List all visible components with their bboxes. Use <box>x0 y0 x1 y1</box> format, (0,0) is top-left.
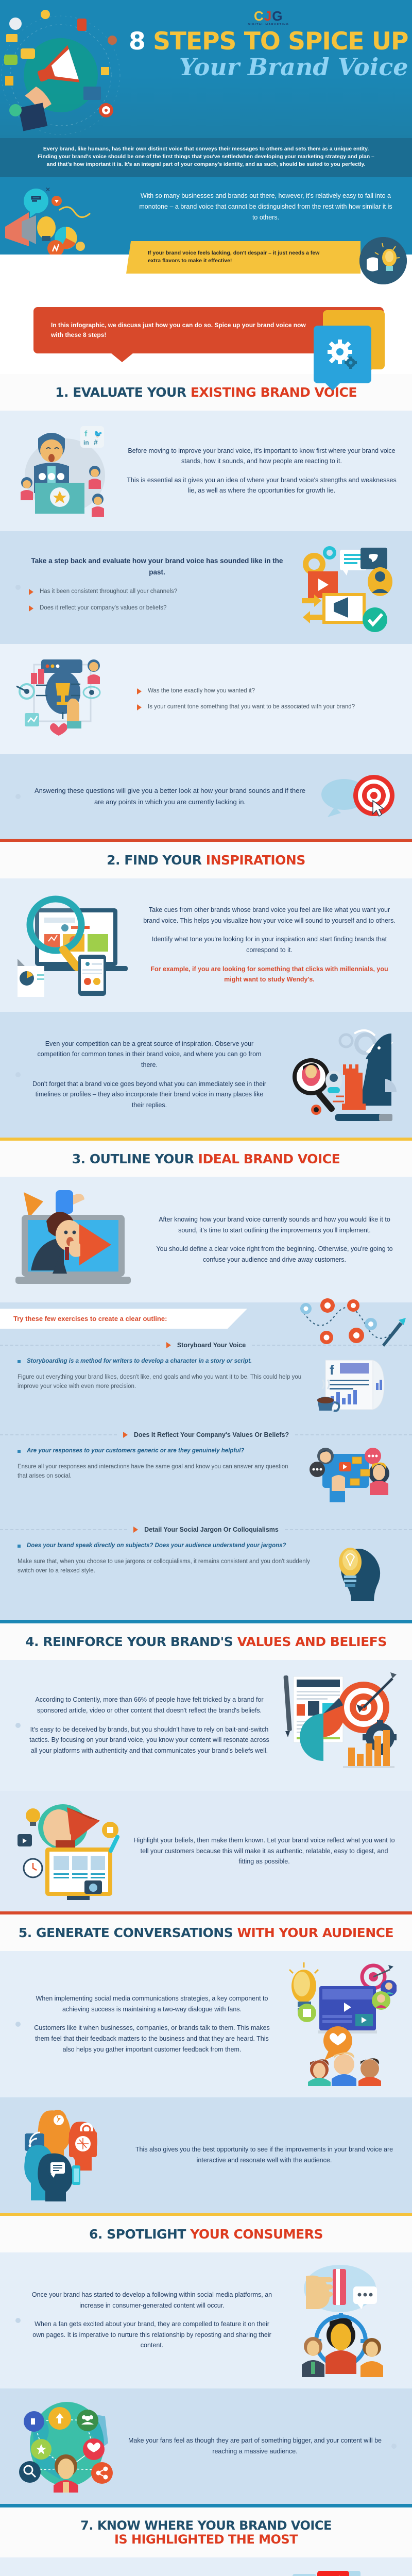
section-2-row-2: Even your competition can be a great sou… <box>0 1012 412 1138</box>
trophy-target-illustration <box>15 655 113 743</box>
hero-title-line-2: Your Brand Voice <box>129 55 408 79</box>
section-6-title-dark: SPOTLIGHT <box>107 2227 186 2242</box>
section-2-title-dark: FIND YOUR <box>124 853 201 868</box>
section-3-exercises: Try these few exercises to create a clea… <box>0 1302 412 1620</box>
section-2-para-1: Take cues from other brands whose brand … <box>142 905 397 926</box>
section-5-number: 5. <box>19 1925 32 1940</box>
intro-paragraph-1: Every brand, like humans, has their own … <box>0 138 412 177</box>
section-7-title-dark: KNOW WHERE YOUR BRAND VOICE <box>97 2518 332 2533</box>
exercise-3-question: Does your brand speak directly on subjec… <box>27 1541 286 1550</box>
section-3-number: 3. <box>72 1151 85 1166</box>
section-1-para-1: Before moving to improve your brand voic… <box>127 446 397 467</box>
section-2-number: 2. <box>107 853 120 868</box>
section-1-bullet-1: Has it been consistent throughout all yo… <box>40 587 177 596</box>
triangle-bullet-icon <box>137 704 142 710</box>
section-2-para-4: Don't forget that a brand voice goes bey… <box>29 1079 270 1111</box>
callout-blue-bubble <box>314 326 371 383</box>
section-6-para-3: Make your fans feel as though they are p… <box>127 2435 383 2456</box>
section-2-text-block-1: Take cues from other brands whose brand … <box>142 905 397 985</box>
triangle-bullet-icon <box>29 605 33 612</box>
square-bullet-icon <box>18 1545 21 1548</box>
section-6-number: 6. <box>89 2227 102 2242</box>
svg-text:f: f <box>330 1362 334 1378</box>
checkmark-desk-illustration <box>283 2569 397 2576</box>
callout-text: In this infographic, we discuss just how… <box>51 321 306 338</box>
list-item: Does it reflect your company's values or… <box>29 604 285 613</box>
bullet-dot <box>15 2318 21 2323</box>
section-6-title-red: YOUR CONSUMERS <box>190 2227 323 2242</box>
hero-title-rest: STEPS TO SPICE UP <box>153 27 408 56</box>
square-bullet-icon <box>18 1450 21 1453</box>
section-2-heading: 2. FIND YOUR INSPIRATIONS <box>0 842 412 878</box>
section-5-para-1: When implementing social media communica… <box>29 1993 275 2014</box>
section-7-row-1: Not only is it smart to know your brand … <box>0 2557 412 2576</box>
bullet-dot <box>391 2444 397 2449</box>
list-item: Has it been consistent throughout all yo… <box>29 587 285 596</box>
community-feedback-illustration <box>283 1962 397 2086</box>
triangle-bullet-icon <box>133 1527 138 1533</box>
section-2-title-red: INSPIRATIONS <box>206 853 305 868</box>
section-4-para-3: Highlight your beliefs, then make them k… <box>132 1835 397 1867</box>
section-3-para-1: After knowing how your brand voice curre… <box>152 1214 397 1235</box>
section-6-row-2: Make your fans feel as though they are p… <box>0 2388 412 2504</box>
exercise-1-heading: Storyboard Your Voice <box>177 1342 246 1349</box>
exercise-3-answer: Make sure that, when you choose to use j… <box>18 1557 319 1576</box>
section-1-row-1: f 🐦 in # <box>0 411 412 531</box>
section-3-heading: 3. OUTLINE YOUR IDEAL BRAND VOICE <box>0 1141 412 1177</box>
social-interaction-illustration <box>307 1447 394 1509</box>
section-4-title-red: VALUES AND BELIEFS <box>237 1634 386 1649</box>
head-lightbulb-idea-illustration <box>328 1541 394 1603</box>
laptop-man-megaphone-illustration <box>15 1188 144 1291</box>
exercise-2-heading-row: Does It Reflect Your Company's Values Or… <box>0 1425 412 1445</box>
infographic-callout: In this infographic, we discuss just how… <box>33 307 384 353</box>
svg-text:#: # <box>94 438 98 446</box>
bullet-dot <box>15 2022 21 2027</box>
svg-text:🐦: 🐦 <box>94 430 102 438</box>
list-item: Was the tone exactly how you wanted it? <box>137 687 397 696</box>
exercise-3-block: Does your brand speak directly on subjec… <box>0 1539 412 1615</box>
svg-text:f: f <box>84 430 88 438</box>
triangle-bullet-icon <box>137 688 142 694</box>
section-4-title-dark: REINFORCE YOUR BRAND'S <box>43 1634 233 1649</box>
section-6-row-1: Once your brand has started to develop a… <box>0 2252 412 2388</box>
exercise-2-question: Are your responses to your customers gen… <box>27 1447 244 1455</box>
svg-text:in: in <box>83 439 89 446</box>
hero-section: CJG DIGITAL MARKETING 8 STEPS TO SPICE U… <box>0 0 412 138</box>
dashed-line <box>295 1434 412 1435</box>
section-4-row-2: Highlight your beliefs, then make them k… <box>0 1791 412 1911</box>
divider-blue <box>0 2504 412 2507</box>
megaphone-icons-illustration: ✕ <box>5 180 139 258</box>
section-5-title-dark: GENERATE CONVERSATIONS <box>36 1925 233 1940</box>
infographic-page: CJG DIGITAL MARKETING 8 STEPS TO SPICE U… <box>0 0 412 2576</box>
newspaper-coffee-illustration: f <box>312 1357 394 1414</box>
section-1-subhead: Take a step back and evaluate how your b… <box>29 555 285 579</box>
section-5-para-3: This also gives you the best opportunity… <box>132 2144 397 2165</box>
cjg-logo: CJG DIGITAL MARKETING <box>237 9 299 26</box>
section-1-bullet-2: Does it reflect your company's values or… <box>40 604 166 613</box>
exercise-1-answer: Figure out everything your brand likes, … <box>18 1372 304 1392</box>
exercise-2-heading: Does It Reflect Your Company's Values Or… <box>134 1431 289 1438</box>
journey-pins-illustration <box>294 1297 407 1359</box>
exercises-lead: Try these few exercises to create a clea… <box>0 1309 247 1329</box>
section-3-title-dark: OUTLINE YOUR <box>90 1151 194 1166</box>
exercise-1-block: Storyboarding is a method for writers to… <box>0 1355 412 1425</box>
section-1-para-2: This is essential as it gives you an ide… <box>127 475 397 496</box>
chess-strategy-illustration <box>278 1023 397 1126</box>
bullet-dot <box>15 794 21 799</box>
global-network-illustration <box>15 2400 118 2493</box>
section-1-number: 1. <box>55 385 68 400</box>
exercise-2-block: Are your responses to your customers gen… <box>0 1445 412 1520</box>
section-3-para-2: You should define a clear voice right fr… <box>152 1244 397 1265</box>
hero-step-count: 8 <box>129 27 145 56</box>
exercise-2-answer: Ensure all your responses and interactio… <box>18 1462 299 1481</box>
section-4-heading: 4. REINFORCE YOUR BRAND'S VALUES AND BEL… <box>0 1623 412 1660</box>
heads-communication-illustration <box>15 2109 124 2201</box>
yellow-banner-wrap: If your brand voice feels lacking, don't… <box>0 255 412 304</box>
section-4-para-1: According to Contently, more than 66% of… <box>29 1694 270 1716</box>
target-audience-illustration <box>283 2264 397 2377</box>
section-4-number: 4. <box>25 1634 39 1649</box>
triangle-bullet-icon <box>123 1432 128 1438</box>
section-7-heading: 7. KNOW WHERE YOUR BRAND VOICE IS HIGHLI… <box>0 2507 412 2557</box>
section-4-text-block-1: According to Contently, more than 66% of… <box>29 1694 270 1756</box>
triangle-bullet-icon <box>29 589 33 595</box>
gears-icon <box>327 338 358 370</box>
section-1-title-dark: EVALUATE YOUR <box>73 385 186 400</box>
logo-letter-g: G <box>272 8 283 24</box>
section-5-row-2: This also gives you the best opportunity… <box>0 2097 412 2213</box>
intro-paragraph-2: With so many businesses and brands out t… <box>139 191 392 224</box>
exercise-3-heading-row: Detail Your Social Jargon Or Colloquiali… <box>0 1520 412 1539</box>
section-1-row-2: Take a step back and evaluate how your b… <box>0 531 412 644</box>
section-1-subhead-block: Take a step back and evaluate how your b… <box>29 555 285 620</box>
dashed-line <box>285 1529 412 1530</box>
section-1-closing: Answering these questions will give you … <box>29 785 311 807</box>
section-2-para-2: Identify what tone you're looking for in… <box>142 934 397 955</box>
bullet-dot <box>15 1723 21 1728</box>
dashed-line <box>0 1434 117 1435</box>
section-5-row-1: When implementing social media communica… <box>0 1951 412 2097</box>
section-1-row-3: Was the tone exactly how you wanted it? … <box>0 644 412 754</box>
section-3-text-block-1: After knowing how your brand voice curre… <box>152 1214 397 1265</box>
section-5-heading: 5. GENERATE CONVERSATIONS WITH YOUR AUDI… <box>0 1914 412 1951</box>
logo-tagline: DIGITAL MARKETING <box>237 23 299 26</box>
section-5-text-block-1: When implementing social media communica… <box>29 1993 275 2055</box>
square-bullet-icon <box>18 1360 21 1363</box>
section-3-row-1: After knowing how your brand voice curre… <box>0 1177 412 1302</box>
section-6-text-block-1: Once your brand has started to develop a… <box>29 2290 275 2351</box>
bullet-dot <box>15 585 21 590</box>
section-4-row-1: According to Contently, more than 66% of… <box>0 1660 412 1791</box>
hero-megaphone-illustration <box>0 9 129 138</box>
section-1-row-4: Answering these questions will give you … <box>0 754 412 839</box>
section-5-title-red: WITH YOUR AUDIENCE <box>237 1925 393 1940</box>
section-1-text-block-1: Before moving to improve your brand voic… <box>127 446 397 497</box>
section-1-bullet-3: Was the tone exactly how you wanted it? <box>148 687 255 696</box>
hero-title-line-1: 8 STEPS TO SPICE UP <box>129 29 408 54</box>
divider-blue <box>0 1620 412 1623</box>
triangle-bullet-icon <box>166 1342 171 1348</box>
section-2-text-block-2: Even your competition can be a great sou… <box>29 1039 270 1111</box>
section-7-title-red: IS HIGHLIGHTED THE MOST <box>5 2533 407 2547</box>
section-6-para-2: When a fan gets excited about your brand… <box>29 2319 275 2351</box>
analytics-target-illustration <box>278 1671 397 1780</box>
bullet-dot <box>15 1072 21 1077</box>
dashed-line <box>0 1529 127 1530</box>
section-5-para-2: Customers like it when businesses, compa… <box>29 2023 275 2055</box>
section-7-number: 7. <box>80 2518 93 2533</box>
section-4-para-2: It's easy to be deceived by brands, but … <box>29 1724 270 1756</box>
section-2-para-3: Even your competition can be a great sou… <box>29 1039 270 1071</box>
section-6-para-1: Once your brand has started to develop a… <box>29 2290 275 2311</box>
lightbulb-hand-illustration <box>359 237 407 284</box>
section-2-row-1: Take cues from other brands whose brand … <box>0 878 412 1012</box>
target-cursor-illustration <box>319 766 397 827</box>
dashed-line <box>0 1345 160 1346</box>
section-2-highlight: For example, if you are looking for some… <box>142 964 397 985</box>
yellow-banner-text: If your brand voice feels lacking, don't… <box>126 241 360 274</box>
svg-text:✕: ✕ <box>45 186 50 193</box>
exercise-3-heading: Detail Your Social Jargon Or Colloquiali… <box>144 1526 279 1533</box>
exercise-1-question: Storyboarding is a method for writers to… <box>27 1357 252 1366</box>
section-1-bullet-4: Is your current tone something that you … <box>148 703 355 711</box>
social-media-icons-illustration <box>294 543 397 633</box>
team-award-illustration: f 🐦 in # <box>15 422 118 520</box>
magnifier-laptop-illustration <box>15 890 134 1001</box>
logo-letter-c: C <box>254 8 264 24</box>
megaphone-content-illustration <box>15 1802 124 1900</box>
section-3-title-red: IDEAL BRAND VOICE <box>198 1151 340 1166</box>
infographic-callout-wrap: In this infographic, we discuss just how… <box>0 304 412 374</box>
list-item: Is your current tone something that you … <box>137 703 397 711</box>
logo-letter-j: J <box>264 8 272 24</box>
section-1-bullets-2: Was the tone exactly how you wanted it? … <box>122 680 397 719</box>
section-6-heading: 6. SPOTLIGHT YOUR CONSUMERS <box>0 2216 412 2252</box>
